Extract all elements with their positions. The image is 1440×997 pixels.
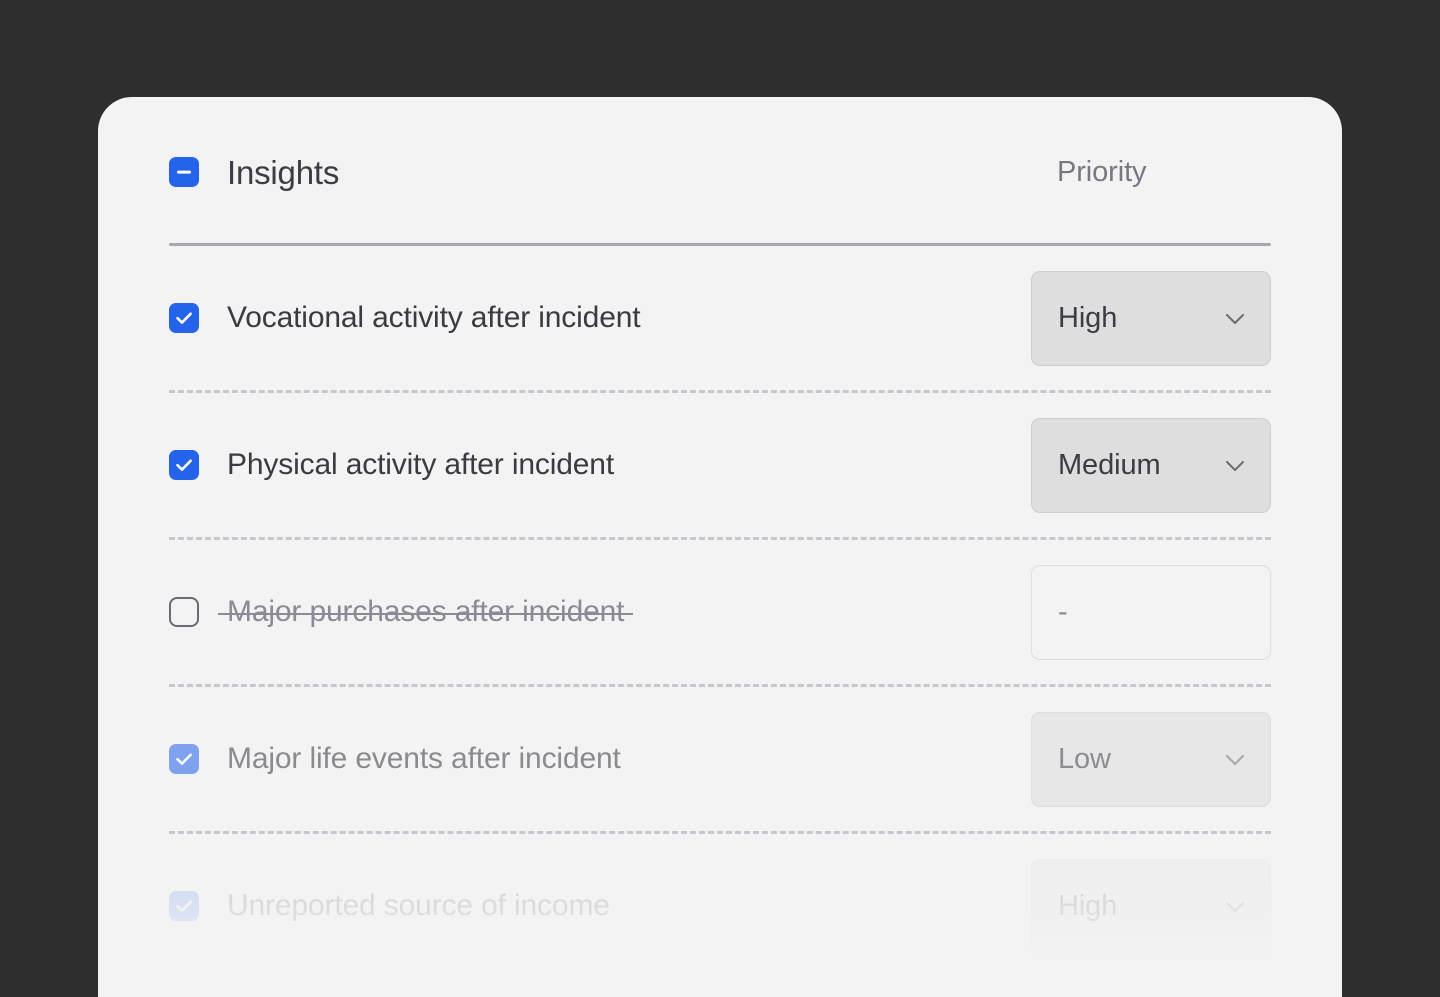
page-title: Insights (227, 156, 339, 189)
priority-column-header: Priority (1031, 158, 1271, 187)
insight-row-left: Vocational activity after incident (169, 302, 1031, 334)
priority-select[interactable]: - (1031, 565, 1271, 660)
check-icon (169, 891, 199, 921)
priority-value: Low (1058, 745, 1222, 774)
minus-icon (169, 157, 199, 187)
insights-header-left: Insights (169, 156, 1031, 189)
check-icon (169, 303, 199, 333)
priority-select[interactable]: High (1031, 271, 1271, 366)
insights-header-row: Insights Priority (169, 97, 1271, 243)
insight-row-left: Major purchases after incident (169, 596, 1031, 628)
insight-row: Major purchases after incident - (169, 540, 1271, 684)
insight-label: Vocational activity after incident (227, 302, 640, 334)
insights-card-content: Insights Priority Vocational activity af… (98, 97, 1342, 997)
priority-select[interactable]: Medium (1031, 418, 1271, 513)
select-all-checkbox[interactable] (169, 157, 199, 187)
insight-label: Unreported source of income (227, 890, 610, 922)
insight-checkbox[interactable] (169, 450, 199, 480)
chevron-down-icon (1222, 452, 1248, 478)
check-icon (169, 450, 199, 480)
empty-box-icon (171, 599, 201, 629)
insight-checkbox[interactable] (169, 891, 199, 921)
priority-select[interactable]: Low (1031, 712, 1271, 807)
priority-value: Medium (1058, 451, 1222, 480)
insight-row: Major life events after incident Low (169, 687, 1271, 831)
insights-card: Insights Priority Vocational activity af… (98, 97, 1342, 997)
insight-row: Unreported source of income High (169, 834, 1271, 978)
chevron-down-icon (1222, 893, 1248, 919)
chevron-down-icon (1222, 305, 1248, 331)
insight-row-left: Unreported source of income (169, 890, 1031, 922)
insight-label: Major purchases after incident (227, 596, 624, 628)
insight-label: Major life events after incident (227, 743, 621, 775)
insight-row: Physical activity after incident Medium (169, 393, 1271, 537)
insight-row: Vocational activity after incident High (169, 246, 1271, 390)
priority-value: High (1058, 892, 1222, 921)
check-icon (169, 744, 199, 774)
insight-row-left: Physical activity after incident (169, 449, 1031, 481)
priority-select[interactable]: High (1031, 859, 1271, 954)
priority-cell: Medium (1031, 418, 1271, 513)
chevron-down-icon (1222, 746, 1248, 772)
priority-value: - (1058, 598, 1248, 627)
insight-label: Physical activity after incident (227, 449, 614, 481)
insight-checkbox[interactable] (169, 303, 199, 333)
insight-checkbox[interactable] (169, 744, 199, 774)
insight-checkbox[interactable] (169, 597, 199, 627)
priority-cell: High (1031, 859, 1271, 954)
priority-value: High (1058, 304, 1222, 333)
insight-row-left: Major life events after incident (169, 743, 1031, 775)
priority-cell: High (1031, 271, 1271, 366)
priority-cell: Low (1031, 712, 1271, 807)
priority-cell: - (1031, 565, 1271, 660)
